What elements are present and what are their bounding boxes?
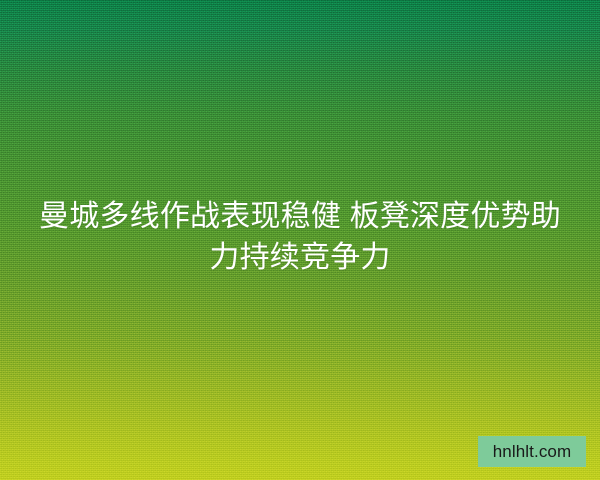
watermark-label: hnlhlt.com (493, 443, 571, 460)
banner-card: 曼城多线作战表现稳健 板凳深度优势助力持续竞争力 hnlhlt.com (0, 0, 600, 480)
watermark-badge: hnlhlt.com (478, 436, 586, 467)
headline-text: 曼城多线作战表现稳健 板凳深度优势助力持续竞争力 (0, 196, 600, 278)
